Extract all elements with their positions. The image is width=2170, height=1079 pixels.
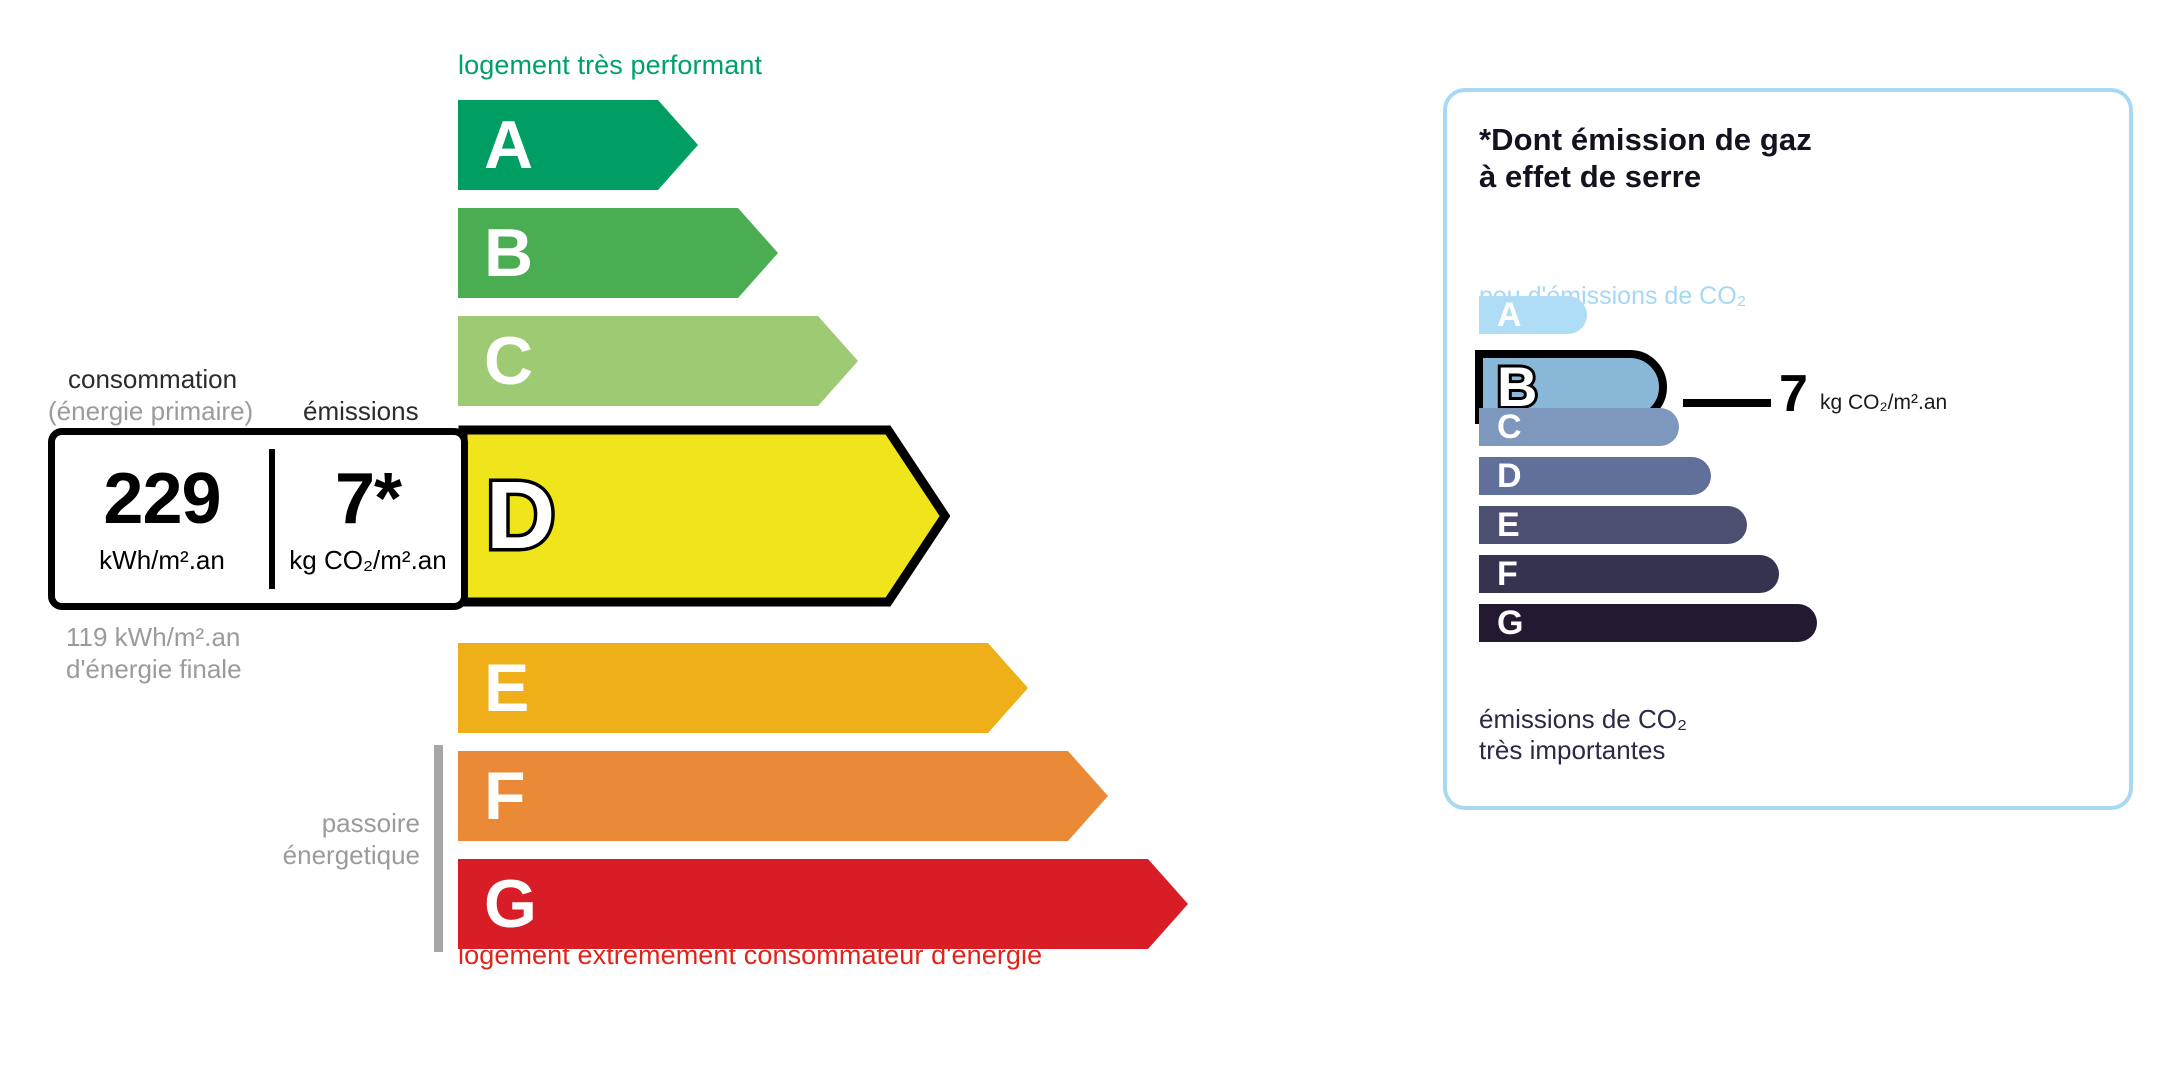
- ghg-callout-value: 7: [1779, 368, 1808, 420]
- arrow-body: [458, 859, 1148, 949]
- energy-class-row-e[interactable]: E: [458, 643, 1028, 733]
- energy-class-row-g[interactable]: G: [458, 859, 1188, 949]
- ghg-callout-leader-line: [1683, 399, 1771, 407]
- emission-value-cell: 7* kg CO₂/m².an: [275, 435, 461, 603]
- energy-value-box: 229 kWh/m².an 7* kg CO₂/m².an: [48, 428, 468, 610]
- ghg-bar: [1479, 604, 1817, 642]
- ghg-class-letter-selected: B: [1497, 359, 1537, 415]
- ghg-class-row-g[interactable]: G: [1479, 604, 1817, 642]
- energy-class-letter: B: [484, 219, 533, 287]
- energy-arrow-e: E: [458, 643, 1028, 733]
- ghg-bottom-line-1: émissions de CO₂: [1479, 704, 1687, 735]
- ghg-class-row-c[interactable]: C: [1479, 408, 1679, 446]
- scale-top-caption: logement très performant: [458, 50, 762, 81]
- energy-class-row-a[interactable]: A: [458, 100, 698, 190]
- ghg-title-line-2: à effet de serre: [1479, 159, 1812, 196]
- ghg-bar: [1479, 296, 1587, 334]
- consumption-value: 229: [103, 463, 220, 535]
- passoire-energetique-label: passoire énergetique: [200, 808, 420, 871]
- energy-arrow-f: F: [458, 751, 1108, 841]
- ghg-class-row-a[interactable]: A: [1479, 296, 1587, 334]
- ghg-emissions-panel: *Dont émission de gaz à effet de serre p…: [1443, 88, 2133, 810]
- passoire-line-1: passoire: [200, 808, 420, 840]
- energy-arrow-a: A: [458, 100, 698, 190]
- arrow-tip-icon: [818, 316, 858, 406]
- ghg-class-letter: C: [1497, 410, 1522, 444]
- ghg-class-letter: D: [1497, 459, 1522, 493]
- ghg-callout-unit: kg CO₂/m².an: [1820, 392, 1947, 413]
- ghg-class-row-d[interactable]: D: [1479, 457, 1711, 495]
- final-energy-caption: d'énergie finale: [66, 654, 242, 686]
- arrow-body: [458, 751, 1068, 841]
- scale-bottom-caption: logement extrêmement consommateur d'éner…: [458, 940, 1042, 971]
- consumption-label: consommation: [68, 364, 237, 395]
- passoire-line-2: énergetique: [200, 840, 420, 872]
- ghg-class-letter: F: [1497, 557, 1518, 591]
- energy-performance-scale: logement très performant A B C: [0, 0, 1380, 1079]
- ghg-class-letter: A: [1497, 298, 1522, 332]
- consumption-unit: kWh/m².an: [99, 545, 225, 576]
- consumption-sublabel: (énergie primaire): [48, 396, 253, 427]
- arrow-tip-icon: [658, 100, 698, 190]
- arrow-tip-icon: [1068, 751, 1108, 841]
- energy-class-letter: G: [484, 870, 537, 938]
- energy-arrow-g: G: [458, 859, 1188, 949]
- arrow-tip-icon: [1148, 859, 1188, 949]
- energy-class-row-c[interactable]: C: [458, 316, 858, 406]
- arrow-tip-icon: [738, 208, 778, 298]
- energy-arrow-c: C: [458, 316, 858, 406]
- ghg-bottom-caption: émissions de CO₂ très importantes: [1479, 704, 1687, 766]
- final-energy-value: 119 kWh/m².an: [66, 622, 242, 654]
- energy-class-letter: C: [484, 327, 533, 395]
- passoire-energetique-bracket: [434, 745, 443, 952]
- energy-class-row-f[interactable]: F: [458, 751, 1108, 841]
- emission-unit: kg CO₂/m².an: [289, 545, 446, 576]
- final-energy-note: 119 kWh/m².an d'énergie finale: [66, 622, 242, 685]
- ghg-title-line-1: *Dont émission de gaz: [1479, 122, 1812, 159]
- ghg-class-letter: E: [1497, 508, 1520, 542]
- energy-class-letter: A: [484, 111, 533, 179]
- ghg-class-row-e[interactable]: E: [1479, 506, 1747, 544]
- energy-class-row-b[interactable]: B: [458, 208, 778, 298]
- energy-class-letter-selected: D: [486, 468, 555, 564]
- ghg-bar: [1479, 555, 1779, 593]
- ghg-class-row-f[interactable]: F: [1479, 555, 1779, 593]
- consumption-value-cell: 229 kWh/m².an: [55, 435, 269, 603]
- ghg-panel-title: *Dont émission de gaz à effet de serre: [1479, 122, 1812, 195]
- arrow-body: [458, 643, 988, 733]
- energy-class-letter: F: [484, 762, 526, 830]
- energy-class-letter: E: [484, 654, 529, 722]
- energy-class-row-d-selected[interactable]: D: [458, 425, 950, 607]
- emission-value: 7*: [335, 463, 401, 535]
- ghg-class-letter: G: [1497, 606, 1523, 640]
- energy-arrow-b: B: [458, 208, 778, 298]
- arrow-tip-icon: [988, 643, 1028, 733]
- emissions-label: émissions: [303, 396, 419, 427]
- ghg-bottom-line-2: très importantes: [1479, 735, 1687, 766]
